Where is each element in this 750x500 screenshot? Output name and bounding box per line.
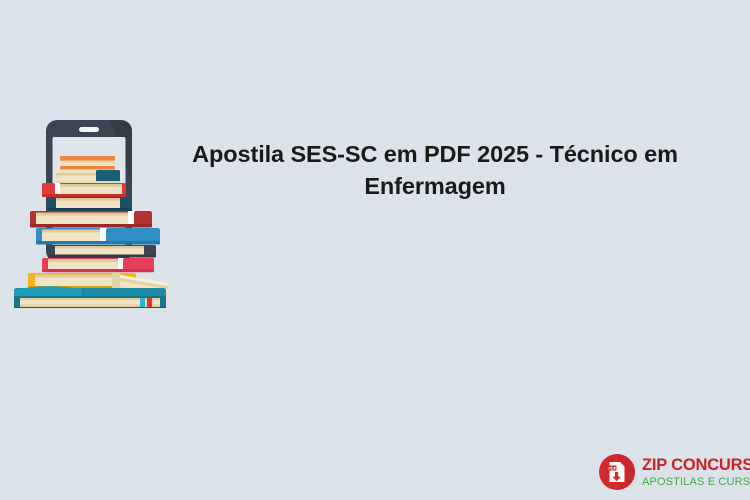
title-block: Apostila SES-SC em PDF 2025 - Técnico em…: [185, 138, 685, 202]
logo-primary-text: ZIP CONCURSOS: [642, 457, 750, 474]
book-layer-3: [42, 183, 126, 197]
pdf-download-circle-icon: PDF: [598, 453, 636, 491]
svg-text:PDF: PDF: [608, 466, 616, 471]
book-layer-10: [14, 286, 166, 308]
logo-secondary-text: APOSTILAS E CURSOS: [642, 477, 750, 488]
book-stack-illustration: [8, 118, 173, 308]
book-layer-8: [42, 258, 154, 272]
product-banner: Apostila SES-SC em PDF 2025 - Técnico em…: [0, 0, 750, 500]
book-layer-2: [56, 170, 120, 184]
book-layer-6: [36, 228, 160, 245]
pdf-download-circle-svg: PDF: [598, 453, 636, 491]
book-layer-1: [60, 156, 115, 170]
zip-concursos-logo[interactable]: PDF ZIP CONCURSOS APOSTILAS E CURSOS: [598, 452, 744, 492]
logo-text-group: ZIP CONCURSOS APOSTILAS E CURSOS: [642, 456, 750, 488]
book-stack-svg: [8, 118, 173, 308]
book-layer-7: [48, 245, 156, 258]
book-layer-5: [30, 211, 152, 228]
page-title: Apostila SES-SC em PDF 2025 - Técnico em…: [185, 138, 685, 202]
book-layer-4: [48, 197, 132, 211]
